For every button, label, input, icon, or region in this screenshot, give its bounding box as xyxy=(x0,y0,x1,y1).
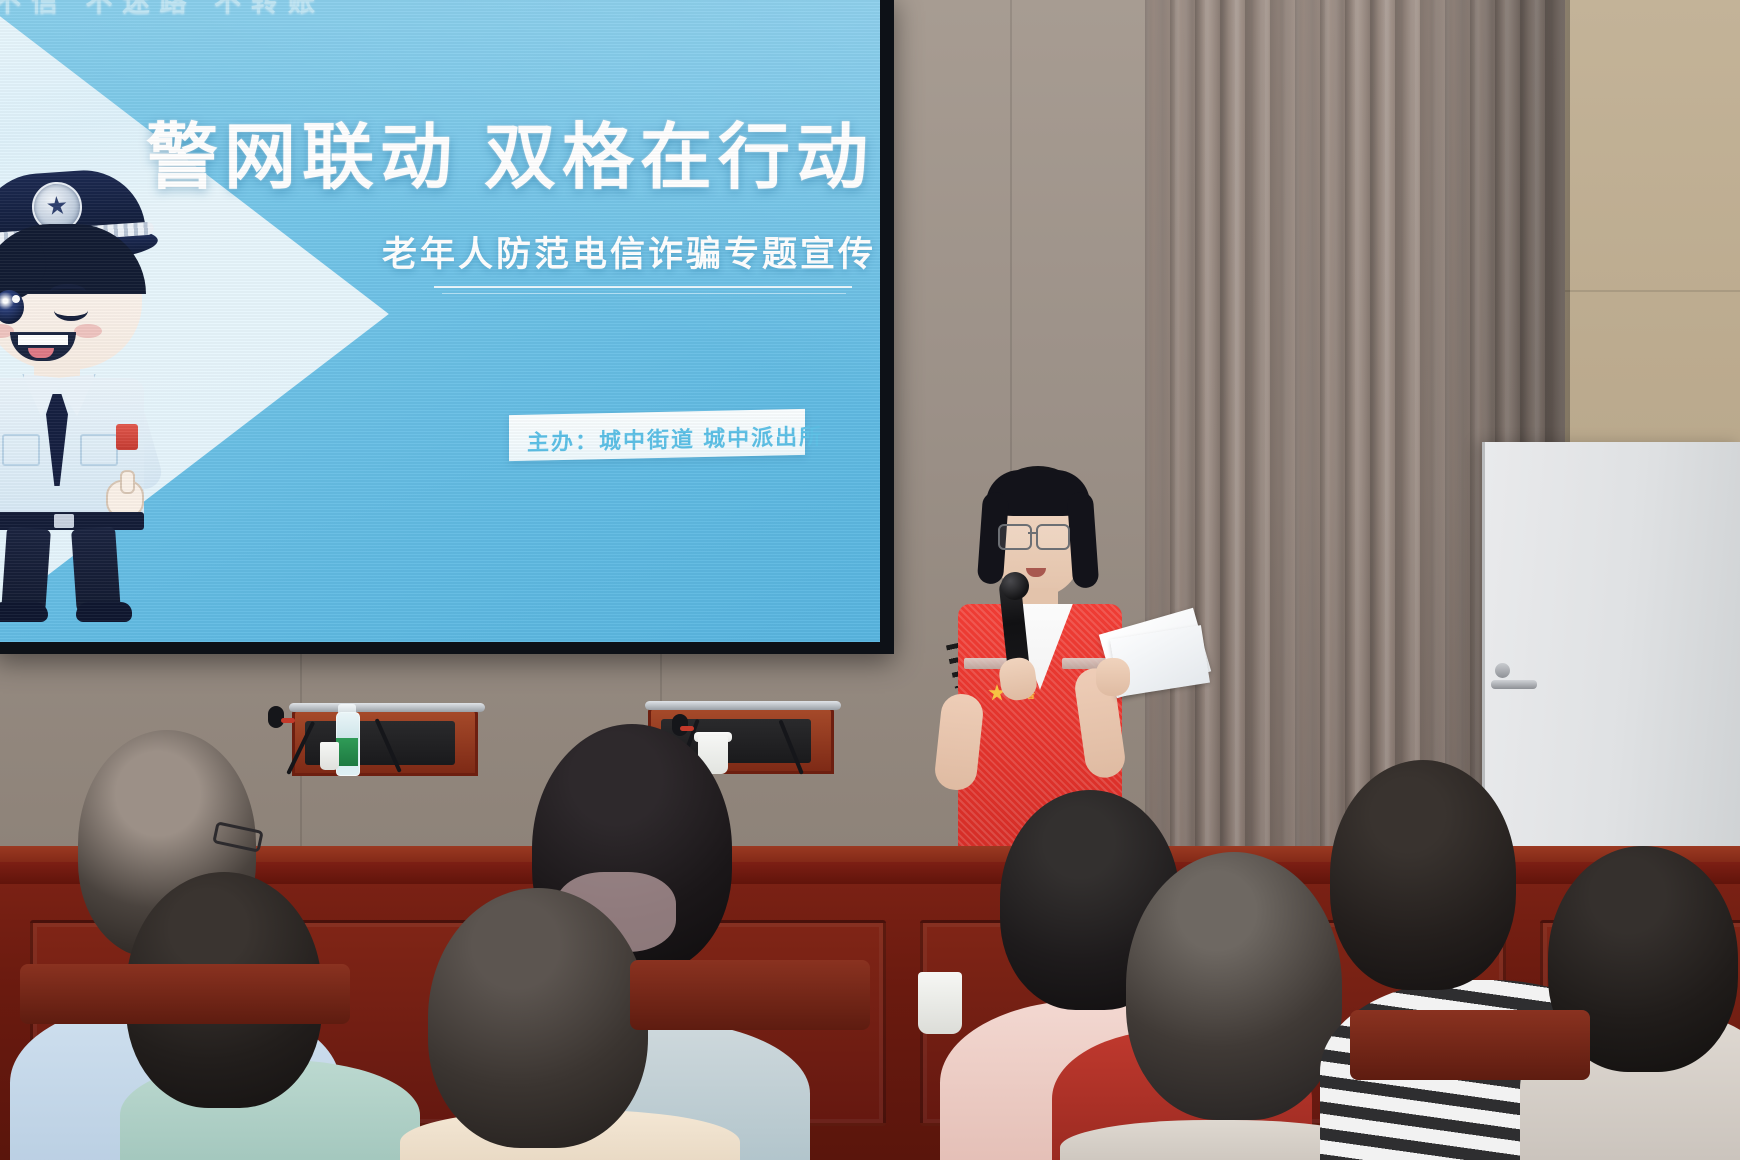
speaker-hand-holding-papers xyxy=(1096,658,1130,696)
mascot-shoulder-patch xyxy=(116,424,138,450)
cartoon-police-officer-mascot xyxy=(0,172,188,624)
door-handle[interactable] xyxy=(1491,680,1537,689)
audience-paper-cup xyxy=(918,972,962,1034)
water-bottle-label xyxy=(336,738,358,766)
desk-microphone-right xyxy=(672,714,688,736)
projection-screen: 不信 不迷路 不转账 警网联动 双格在行动 老年人防范电信诈骗专题宣传 主办：城… xyxy=(0,0,894,654)
microphone-ring xyxy=(281,718,295,723)
eyeglasses-bridge xyxy=(1028,532,1038,534)
speaker-hair-right xyxy=(1067,491,1100,589)
microphone-ring xyxy=(680,726,694,731)
mascot-shoe-right xyxy=(76,602,132,622)
mascot-blush-right xyxy=(74,324,102,338)
audience-chair-left xyxy=(20,964,350,1024)
audience-chair-right xyxy=(1350,1010,1590,1080)
slide-divider-thin xyxy=(442,293,846,294)
chair-rail xyxy=(645,701,841,710)
audience-chair-center xyxy=(630,960,870,1030)
slide-organizer-text: 主办：城中街道 城中派出所 xyxy=(527,419,823,457)
mascot-pocket-left xyxy=(2,434,40,466)
slide-top-partial-text: 不信 不迷路 不转账 xyxy=(0,0,514,19)
audience-grey-hair-head xyxy=(428,888,648,1148)
eyeglasses-icon xyxy=(998,524,1032,550)
eyeglasses-icon xyxy=(1036,524,1070,550)
slide-subtitle: 老年人防范电信诈骗专题宣传 xyxy=(382,226,876,277)
slide-divider xyxy=(434,286,852,288)
audience-front-right-head xyxy=(1126,852,1342,1120)
presentation-slide: 不信 不迷路 不转账 警网联动 双格在行动 老年人防范电信诈骗专题宣传 主办：城… xyxy=(0,0,880,642)
mascot-shoe-left xyxy=(0,602,48,622)
exit-door[interactable] xyxy=(1482,442,1740,860)
desk-microphone-left xyxy=(268,706,284,728)
mascot-eyebrow xyxy=(50,284,86,299)
conference-hall-photo: 不信 不迷路 不转账 警网联动 双格在行动 老年人防范电信诈骗专题宣传 主办：城… xyxy=(0,0,1740,1160)
audience-striped-top-head xyxy=(1330,760,1516,990)
chair-rail xyxy=(289,703,485,712)
mascot-eye-wink xyxy=(54,300,88,321)
mascot-pocket-right xyxy=(80,434,118,466)
door-lock-icon xyxy=(1495,663,1510,678)
mascot-belt-buckle xyxy=(54,514,74,528)
hand-sanitizer-cup xyxy=(320,742,339,770)
slide-title: 警网联动 双格在行动 xyxy=(146,98,874,203)
